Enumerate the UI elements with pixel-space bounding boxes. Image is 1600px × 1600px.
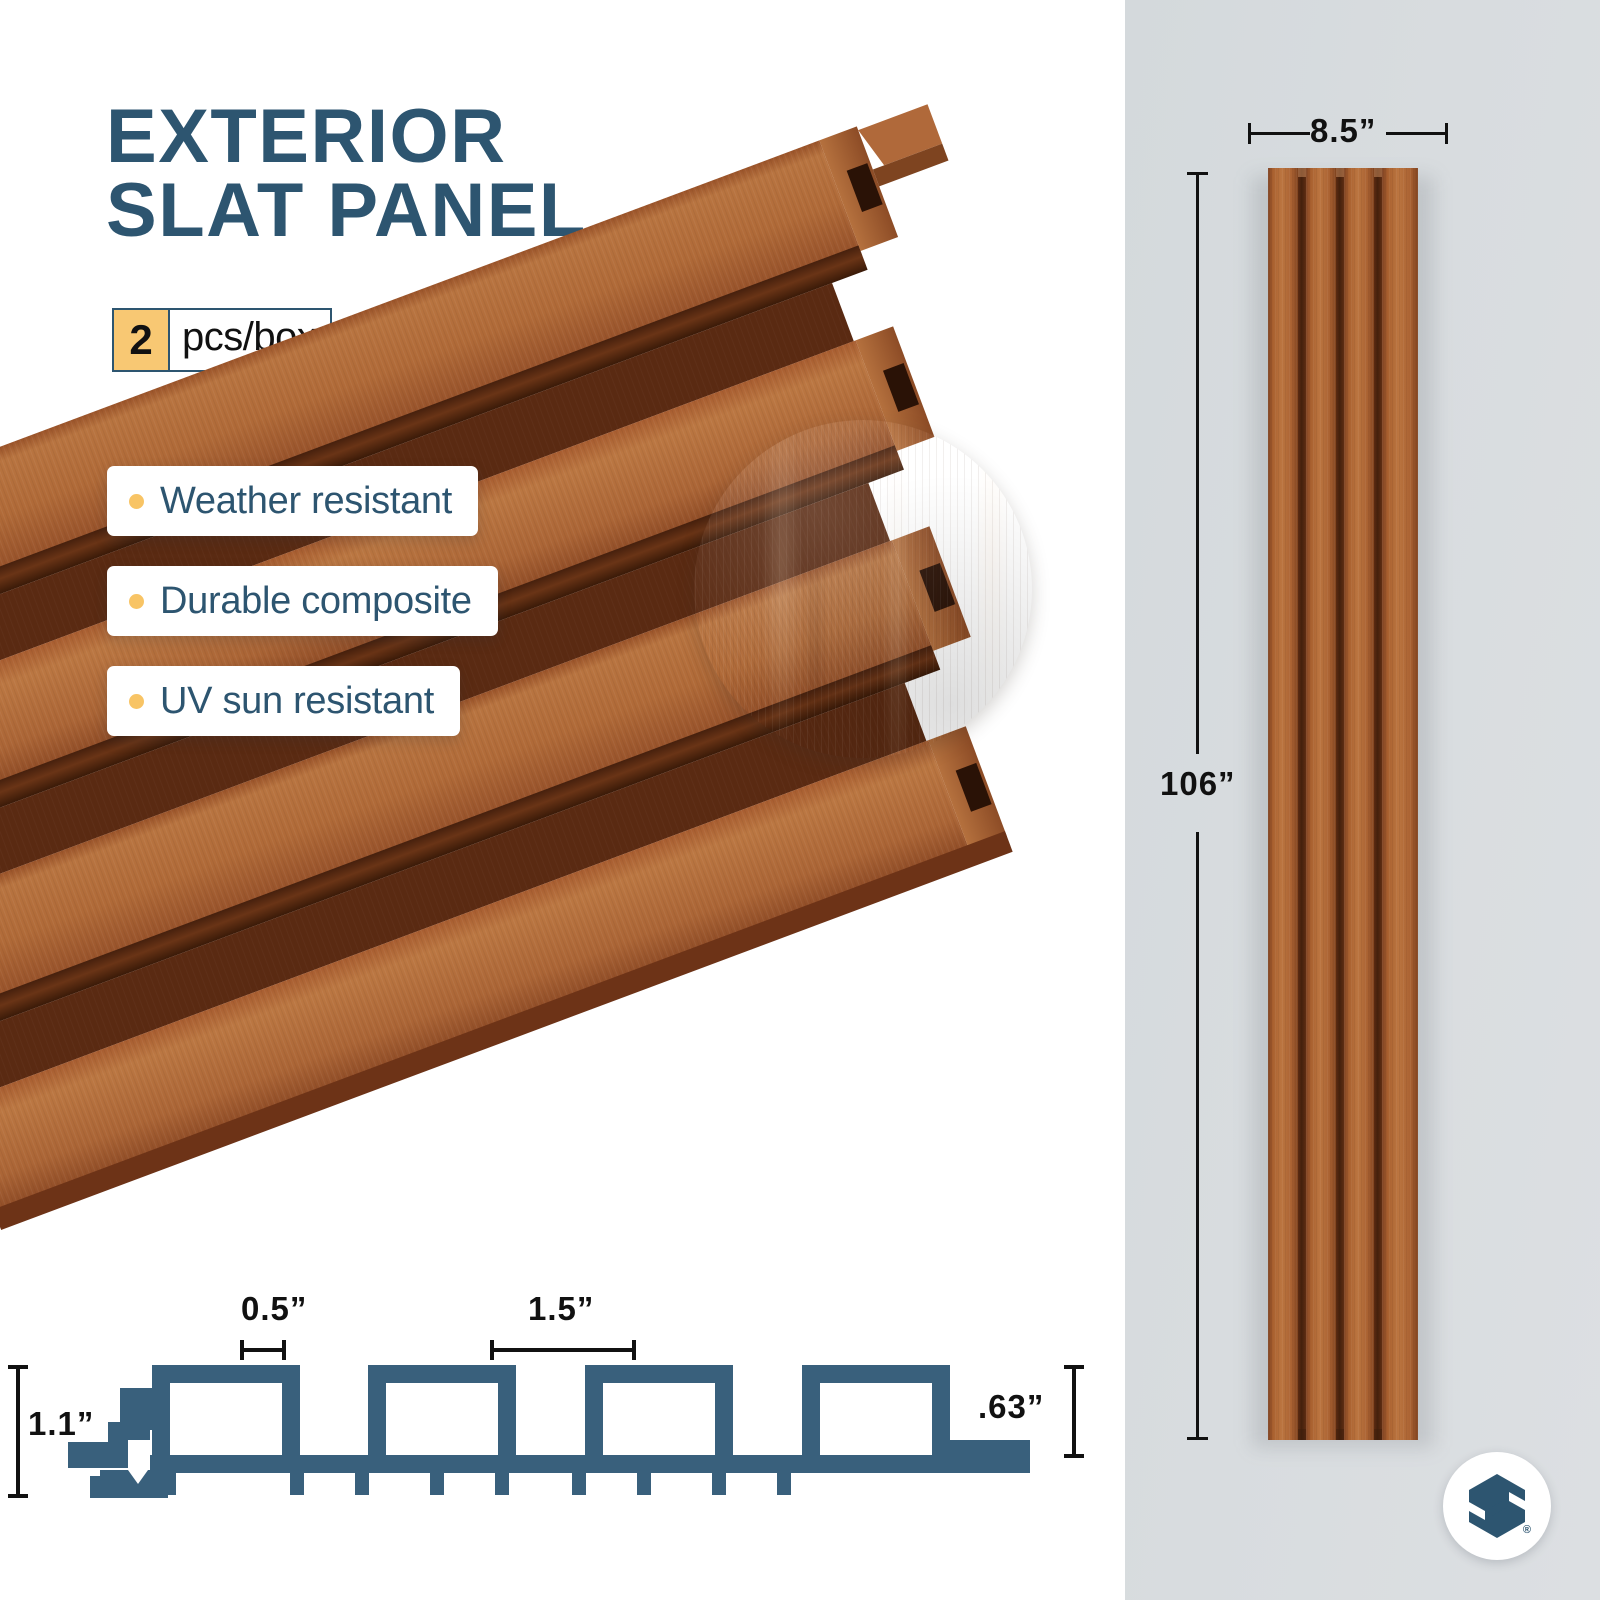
wood-texture-swatch [694, 420, 1032, 758]
registered-trademark-symbol: ® [1523, 1524, 1531, 1536]
panel-groove-2 [1336, 168, 1344, 1440]
length-dimension-label: 106” [1160, 765, 1236, 803]
panel-bottom-notch-2 [1336, 1429, 1344, 1440]
feature-label: Weather resistant [160, 480, 452, 523]
panel-slat-2 [1306, 168, 1336, 1440]
width-dimension-label: 8.5” [1310, 112, 1376, 150]
brand-logo-badge: ® [1443, 1452, 1551, 1560]
feature-card-uv-sun-resistant: UV sun resistant [107, 666, 460, 736]
feature-card-weather-resistant: Weather resistant [107, 466, 478, 536]
hexagon-s-logo-icon [1464, 1471, 1530, 1541]
panel-bottom-notch-1 [1298, 1429, 1306, 1440]
panel-top-notch-2 [1336, 168, 1344, 177]
swatch-sheen [694, 420, 1032, 758]
slat-depth-label: .63” [978, 1388, 1044, 1426]
panel-bottom-notch-3 [1374, 1429, 1382, 1440]
slat-width-label: 1.5” [528, 1290, 594, 1328]
infographic-canvas: EXTERIOR SLAT PANEL 2 pcs/box [0, 0, 1600, 1600]
panel-profile-cross-section: 0.5” 1.5” 1.1” .63” [0, 1270, 1125, 1570]
bullet-dot-icon [129, 694, 144, 709]
profile-height-label: 1.1” [28, 1405, 94, 1443]
feature-card-durable-composite: Durable composite [107, 566, 498, 636]
panel-groove-1 [1298, 168, 1306, 1440]
panel-slat-4 [1382, 168, 1418, 1440]
bullet-dot-icon [129, 594, 144, 609]
panel-groove-3 [1374, 168, 1382, 1440]
title-line-1: EXTERIOR [106, 94, 507, 179]
panel-top-notch-1 [1298, 168, 1306, 177]
feature-label: UV sun resistant [160, 680, 434, 723]
feature-label: Durable composite [160, 580, 472, 623]
full-length-slat-panel [1268, 168, 1418, 1440]
panel-slat-3 [1344, 168, 1374, 1440]
panel-slat-1 [1268, 168, 1298, 1440]
groove-width-label: 0.5” [241, 1290, 307, 1328]
panel-top-notch-3 [1374, 168, 1382, 177]
bullet-dot-icon [129, 494, 144, 509]
